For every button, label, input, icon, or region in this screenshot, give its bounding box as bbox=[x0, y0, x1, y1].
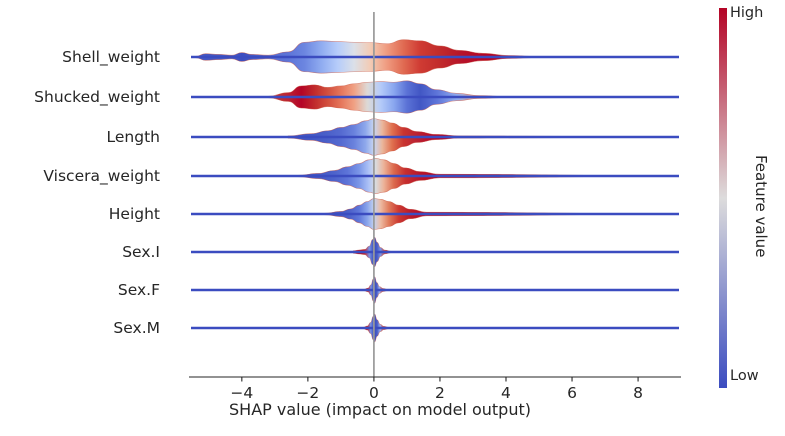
colorbar-title: Feature value bbox=[752, 155, 770, 257]
violin-Sex.I bbox=[191, 237, 679, 266]
violin-Height bbox=[191, 199, 679, 230]
colorbar-gradient bbox=[714, 8, 744, 388]
colorbar-bar bbox=[719, 8, 727, 388]
violin-Shucked_weight bbox=[191, 81, 679, 113]
violin-plot-canvas bbox=[0, 0, 785, 436]
colorbar-low-label: Low bbox=[730, 368, 759, 384]
violin-Length bbox=[191, 119, 679, 156]
violin-Viscera_weight bbox=[191, 158, 679, 193]
shap-summary-plot: Shell_weightShucked_weightLengthViscera_… bbox=[0, 0, 785, 436]
colorbar-high-label: High bbox=[730, 5, 763, 21]
violin-Sex.F bbox=[191, 277, 679, 303]
x-axis-title: SHAP value (impact on model output) bbox=[0, 400, 760, 419]
violin-Shell_weight bbox=[191, 40, 679, 75]
violin-Sex.M bbox=[191, 314, 679, 342]
